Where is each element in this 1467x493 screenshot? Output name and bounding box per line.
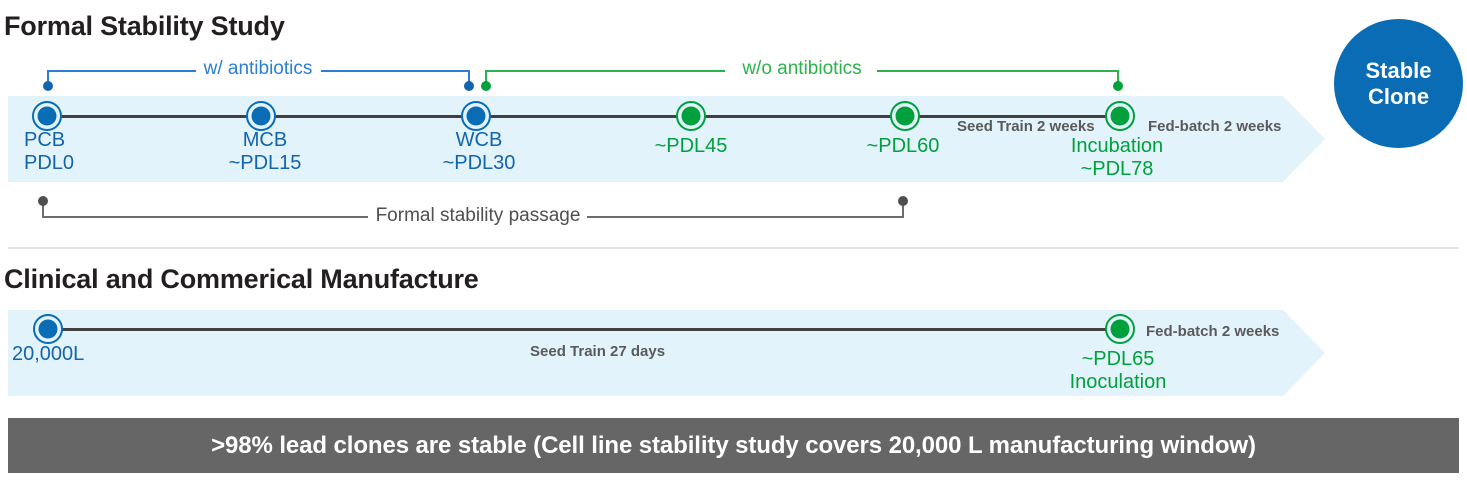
summary-banner: >98% lead clones are stable (Cell line s…	[8, 418, 1459, 473]
bracket-bar-left	[42, 216, 368, 218]
phase-label-fed-batch-clinical: Fed-batch 2 weeks	[1146, 323, 1279, 340]
section-title-formal-stability: Formal Stability Study	[4, 11, 285, 42]
bracket-bar-right	[877, 70, 1119, 72]
bracket-bar-left	[47, 70, 196, 72]
timeline-node-20000l[interactable]	[33, 314, 63, 344]
stability-timeline-figure: Formal Stability Study w/ antibiotics w/…	[0, 0, 1467, 493]
timeline-node-label-mcb: MCB ~PDL15	[229, 129, 302, 175]
bracket-dot-left	[43, 81, 53, 91]
bracket-dot-left	[481, 81, 491, 91]
bracket-dot-left	[38, 196, 48, 206]
summary-banner-text: >98% lead clones are stable (Cell line s…	[211, 432, 1256, 460]
timeline-node-wcb[interactable]	[461, 101, 491, 131]
section-divider	[8, 247, 1459, 249]
section-title-clinical-manufacture: Clinical and Commerical Manufacture	[4, 264, 479, 295]
stable-clone-badge-label: Stable Clone	[1365, 58, 1431, 110]
phase-label-fed-batch-formal: Fed-batch 2 weeks	[1148, 118, 1281, 135]
timeline-node-label-pdl78: Incubation ~PDL78	[1071, 135, 1163, 181]
timeline-node-mcb[interactable]	[246, 101, 276, 131]
bracket-bar-right	[321, 70, 470, 72]
timeline-node-label-pdl65: ~PDL65 Inoculation	[1070, 348, 1167, 394]
bracket-dot-right	[1113, 81, 1123, 91]
timeline-node-label-pdl60: ~PDL60	[867, 135, 940, 158]
bracket-bar-right	[587, 216, 904, 218]
timeline-node-pcb[interactable]	[32, 101, 62, 131]
bracket-dot-right	[898, 196, 908, 206]
bracket-formal-stability-passage: Formal stability passage	[42, 196, 904, 218]
timeline-node-label-pcb: PCB PDL0	[24, 129, 74, 175]
bracket-label-formal-stability-passage: Formal stability passage	[376, 205, 581, 227]
timeline-node-pdl78[interactable]	[1105, 101, 1135, 131]
bracket-label-with-antibiotics: w/ antibiotics	[204, 58, 313, 80]
timeline-node-label-pdl45: ~PDL45	[655, 135, 728, 158]
timeline-node-label-20000l: 20,000L	[12, 343, 84, 366]
bracket-dot-right	[464, 81, 474, 91]
timeline-node-label-wcb: WCB ~PDL30	[443, 129, 516, 175]
phase-label-seed-train-formal: Seed Train 2 weeks	[957, 118, 1095, 135]
bracket-bar-left	[485, 70, 725, 72]
timeline-node-pdl60[interactable]	[890, 101, 920, 131]
timeline-axis-clinical	[48, 328, 1120, 331]
timeline-node-pdl45[interactable]	[676, 101, 706, 131]
phase-label-seed-train-clinical: Seed Train 27 days	[530, 343, 665, 360]
timeline-node-pdl65[interactable]	[1105, 314, 1135, 344]
stable-clone-badge: Stable Clone	[1334, 19, 1463, 148]
bracket-label-without-antibiotics: w/o antibiotics	[742, 58, 861, 80]
